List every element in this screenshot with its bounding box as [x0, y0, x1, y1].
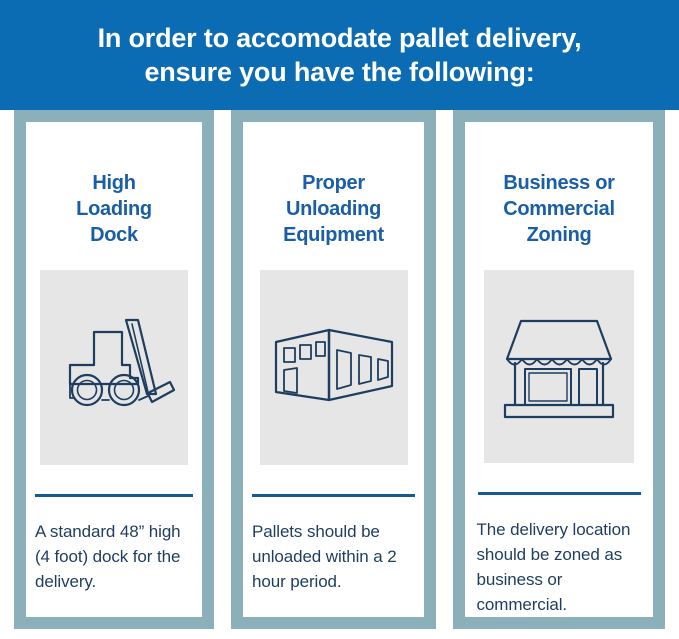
card-title-1: High Loading Dock: [72, 170, 156, 248]
card-proper-unloading-equipment: Proper Unloading Equipment: [243, 122, 424, 617]
warehouse-icon: [271, 322, 397, 414]
divider-1: [35, 494, 193, 497]
card-business-or-commercial-zoning: Business or Commercial Zoning: [465, 122, 653, 617]
card-title-3: Business or Commercial Zoning: [499, 170, 619, 248]
card-body-3: The delivery location should be zoned as…: [477, 517, 642, 617]
card-title-1-line-3: Dock: [76, 222, 152, 248]
icon-box-3: [484, 270, 634, 463]
card-title-2-line-3: Equipment: [283, 222, 384, 248]
forklift-icon: [52, 308, 176, 428]
card-title-3-line-2: Commercial: [503, 196, 615, 222]
header-title-line-1: In order to accomodate pallet delivery,: [98, 21, 582, 55]
divider-2: [252, 494, 415, 497]
card-title-1-line-2: Loading: [76, 196, 152, 222]
card-title-3-line-3: Zoning: [503, 222, 615, 248]
storefront-icon: [499, 313, 619, 421]
card-high-loading-dock: High Loading Dock: [26, 122, 202, 617]
icon-box-2: [260, 270, 408, 465]
divider-3: [478, 492, 641, 495]
card-body-2: Pallets should be unloaded within a 2 ho…: [252, 519, 415, 594]
header-title-line-2: ensure you have the following:: [144, 55, 534, 89]
card-title-1-line-1: High: [76, 170, 152, 196]
card-title-2-line-2: Unloading: [283, 196, 384, 222]
card-title-2: Proper Unloading Equipment: [279, 170, 388, 248]
card-title-3-line-1: Business or: [503, 170, 615, 196]
header-banner: In order to accomodate pallet delivery, …: [0, 0, 679, 110]
card-body-1: A standard 48” high (4 foot) dock for th…: [35, 519, 193, 594]
pallet-delivery-infographic: In order to accomodate pallet delivery, …: [0, 0, 679, 639]
card-title-2-line-1: Proper: [283, 170, 384, 196]
icon-box-1: [40, 270, 188, 465]
